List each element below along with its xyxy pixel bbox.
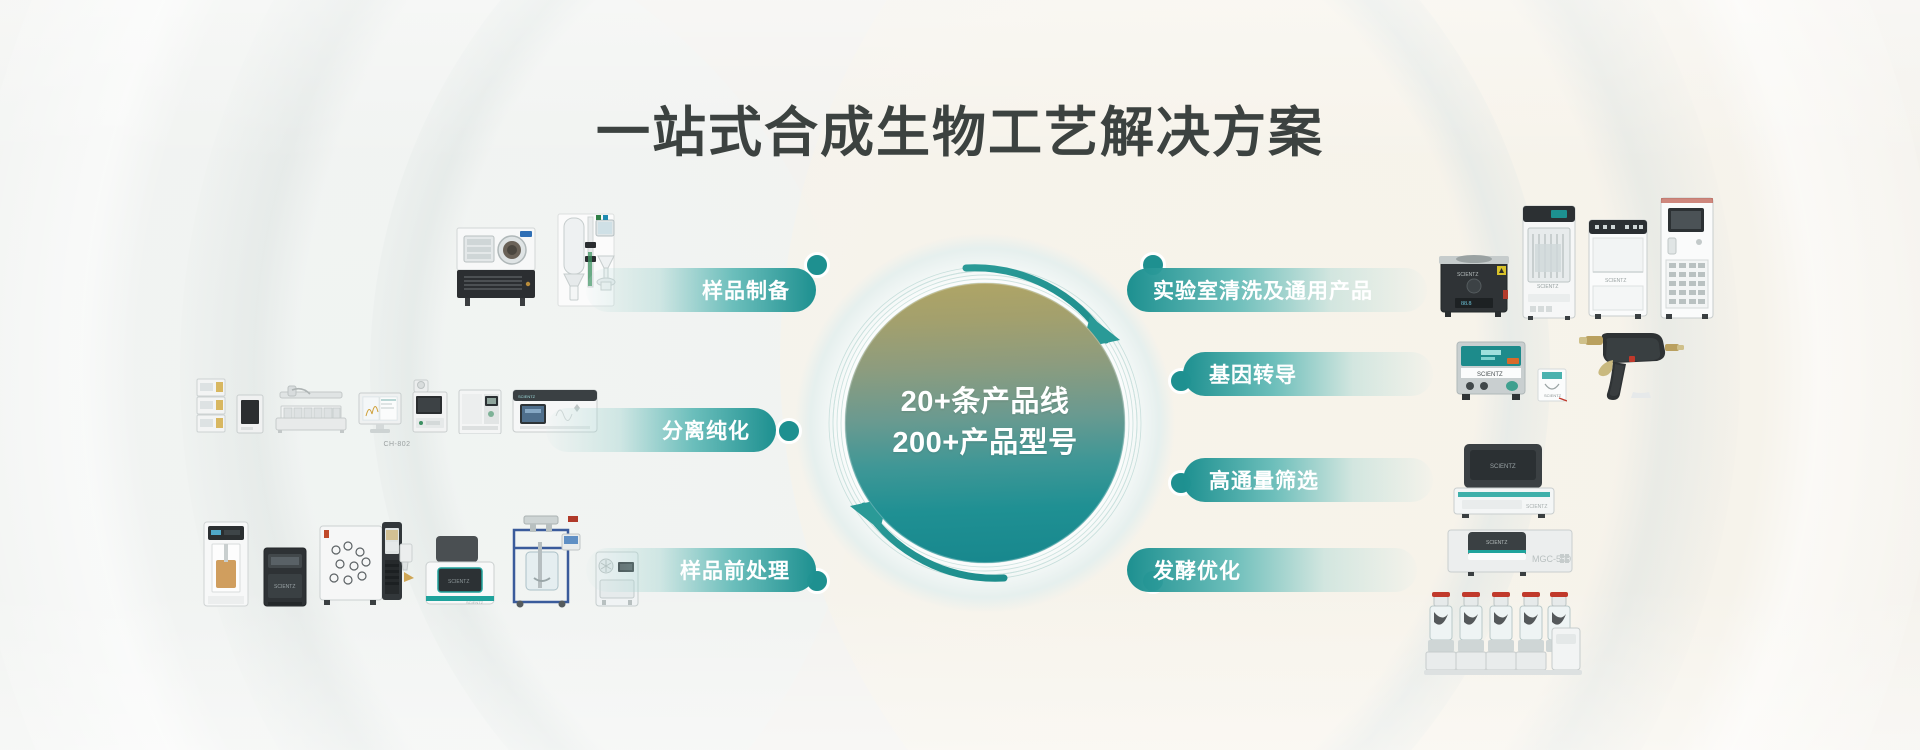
sample-pretreatment-equipment: SCIENTZ bbox=[200, 512, 640, 608]
laboratory-cleaning-equipment: SCIENTZ 88.8 SCIENTZ bbox=[1437, 196, 1715, 320]
pill-sample-pretreatment[interactable]: 样品前处理 bbox=[586, 548, 816, 592]
pill-label: 分离纯化 bbox=[662, 415, 750, 445]
svg-text:SCIENTZ: SCIENTZ bbox=[1486, 540, 1507, 546]
pill-laboratory-cleaning[interactable]: 实验室清洗及通用产品 bbox=[1127, 268, 1427, 312]
parallel-bioreactors-icon bbox=[1424, 584, 1584, 676]
dot-separation[interactable] bbox=[776, 418, 802, 444]
svg-text:SCIENTZ: SCIENTZ bbox=[1537, 284, 1558, 290]
hub-line-2: 200+产品型号 bbox=[892, 423, 1077, 464]
cryo-mill-icon: SCIENTZ SCIENTZ bbox=[424, 534, 496, 608]
glassware-washer-icon: SCIENTZ bbox=[1521, 204, 1577, 320]
svg-text:SCIENTZ: SCIENTZ bbox=[448, 579, 469, 585]
column-oven-icon bbox=[236, 394, 264, 434]
svg-text:SCIENTZ: SCIENTZ bbox=[518, 394, 536, 399]
central-hub: 20+条产品线 200+产品型号 bbox=[790, 228, 1180, 618]
workstation-monitor-icon bbox=[358, 392, 402, 434]
pill-high-throughput-screening[interactable]: 高通量筛选 bbox=[1183, 458, 1433, 502]
glass-reactor-icon bbox=[506, 512, 584, 608]
pill-label: 样品制备 bbox=[702, 275, 790, 305]
pill-label: 实验室清洗及通用产品 bbox=[1153, 275, 1373, 305]
svg-text:SCIENTZ: SCIENTZ bbox=[1605, 278, 1626, 284]
pill-label: 样品前处理 bbox=[680, 555, 790, 585]
pill-sample-preparation[interactable]: 样品制备 bbox=[586, 268, 816, 312]
tissue-grinder-icon: SCIENTZ bbox=[262, 546, 308, 608]
ultrasonic-homogenizer-icon bbox=[200, 520, 252, 608]
pill-label: 基因转导 bbox=[1209, 359, 1297, 389]
fraction-collector-icon bbox=[274, 384, 348, 434]
hts-workstation-icon: SCIENTZ SCIENTZ bbox=[1452, 442, 1556, 518]
pill-label: 发酵优化 bbox=[1153, 555, 1241, 585]
fermentation-equipment: SCIENTZ MGC-500 bbox=[1424, 528, 1584, 676]
hub-line-1: 20+条产品线 bbox=[901, 382, 1070, 423]
page-title: 一站式合成生物工艺解决方案 bbox=[0, 88, 1920, 167]
svg-text:SCIENTZ: SCIENTZ bbox=[1490, 464, 1516, 470]
svg-text:SCIENTZ: SCIENTZ bbox=[1526, 504, 1547, 510]
electroporator-icon: SCIENTZ bbox=[1455, 340, 1527, 402]
pill-fermentation-optimization[interactable]: 发酵优化 bbox=[1127, 548, 1417, 592]
svg-text:SCIENTZ: SCIENTZ bbox=[274, 584, 295, 590]
separation-caption: CH-802 bbox=[196, 441, 598, 448]
gas-controller-icon: SCIENTZ MGC-500 bbox=[1446, 528, 1574, 578]
svg-text:SCIENTZ: SCIENTZ bbox=[466, 600, 484, 605]
pill-label: 高通量筛选 bbox=[1209, 465, 1319, 495]
column-cabinet-icon bbox=[458, 382, 502, 434]
svg-text:88.8: 88.8 bbox=[1461, 301, 1472, 307]
high-throughput-screening-equipment: SCIENTZ SCIENTZ bbox=[1452, 442, 1556, 518]
gene-gun-icon bbox=[1577, 330, 1685, 402]
high-pressure-homogenizer-icon bbox=[318, 516, 414, 608]
prep-chromatograph-icon bbox=[412, 378, 448, 434]
cuvette-box-icon: SCIENTZ bbox=[1537, 368, 1567, 402]
svg-text:SCIENTZ: SCIENTZ bbox=[1477, 372, 1503, 378]
banner-root: 一站式合成生物工艺解决方案 bbox=[0, 0, 1920, 750]
gene-transduction-equipment: SCIENTZ SCIENTZ bbox=[1455, 330, 1685, 402]
pill-gene-transduction[interactable]: 基因转导 bbox=[1183, 352, 1433, 396]
freeze-dryer-icon bbox=[452, 222, 542, 308]
cage-washer-icon bbox=[1659, 196, 1715, 320]
svg-text:SCIENTZ: SCIENTZ bbox=[1544, 393, 1562, 398]
separation-purification-equipment: SCIENTZ CH-802 bbox=[196, 378, 598, 434]
hub-core: 20+条产品线 200+产品型号 bbox=[845, 283, 1125, 563]
pill-separation-purification[interactable]: 分离纯化 bbox=[546, 408, 776, 452]
ultrasonic-cleaner-icon: SCIENTZ 88.8 bbox=[1437, 246, 1511, 320]
chromatography-stack-icon bbox=[196, 378, 226, 434]
svg-text:SCIENTZ: SCIENTZ bbox=[1457, 272, 1478, 278]
undercounter-washer-icon: SCIENTZ bbox=[1587, 216, 1649, 320]
